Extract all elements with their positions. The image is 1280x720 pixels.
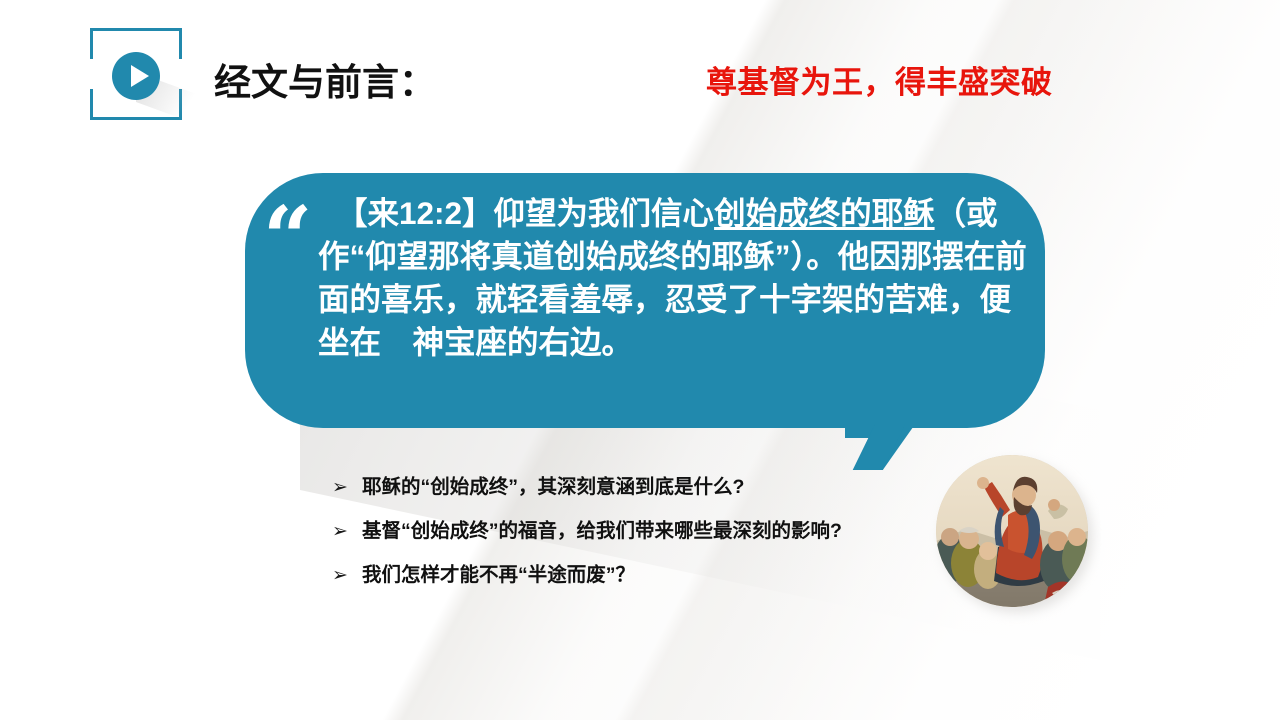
arrow-bullet-icon: ➢ <box>332 474 362 500</box>
verse-underlined-b: 稣 <box>903 195 935 231</box>
play-circle <box>112 52 160 100</box>
jesus-teaching-photo <box>936 455 1088 607</box>
list-item-label: 基督“创始成终”的福音，给我们带来哪些最深刻的影响? <box>362 518 892 544</box>
list-item: ➢ 我们怎样才能不再“半途而废”？ <box>332 562 892 588</box>
jesus-teaching-illustration <box>936 455 1088 607</box>
slide-canvas: 经文与前言： 尊基督为王，得丰盛突破 “ 【来12:2】仰望为我们信心创始成终的… <box>0 0 1280 720</box>
verse-underlined-a: 创始成终的耶 <box>714 195 903 231</box>
play-button-icon[interactable] <box>90 28 190 128</box>
headline-text: 尊基督为王，得丰盛突破 <box>706 57 1053 102</box>
list-item: ➢ 基督“创始成终”的福音，给我们带来哪些最深刻的影响? <box>332 518 892 544</box>
arrow-bullet-icon: ➢ <box>332 562 362 588</box>
list-item-label: 耶稣的“创始成终”，其深刻意涵到底是什么? <box>362 474 892 500</box>
question-list: ➢ 耶稣的“创始成终”，其深刻意涵到底是什么? ➢ 基督“创始成终”的福音，给我… <box>332 474 892 606</box>
page-title: 经文与前言： <box>214 52 436 106</box>
list-item: ➢ 耶稣的“创始成终”，其深刻意涵到底是什么? <box>332 474 892 500</box>
verse-reference: 【来12:2】 <box>336 195 494 231</box>
list-item-label: 我们怎样才能不再“半途而废”？ <box>362 562 892 588</box>
play-triangle-icon <box>131 65 149 87</box>
verse-part-1: 仰望为我们信心 <box>494 195 715 231</box>
arrow-bullet-icon: ➢ <box>332 518 362 544</box>
quote-mark-icon: “ <box>263 196 312 282</box>
scripture-verse-text: 【来12:2】仰望为我们信心创始成终的耶稣（或作“仰望那将真道创始成终的耶稣”）… <box>318 192 1034 364</box>
